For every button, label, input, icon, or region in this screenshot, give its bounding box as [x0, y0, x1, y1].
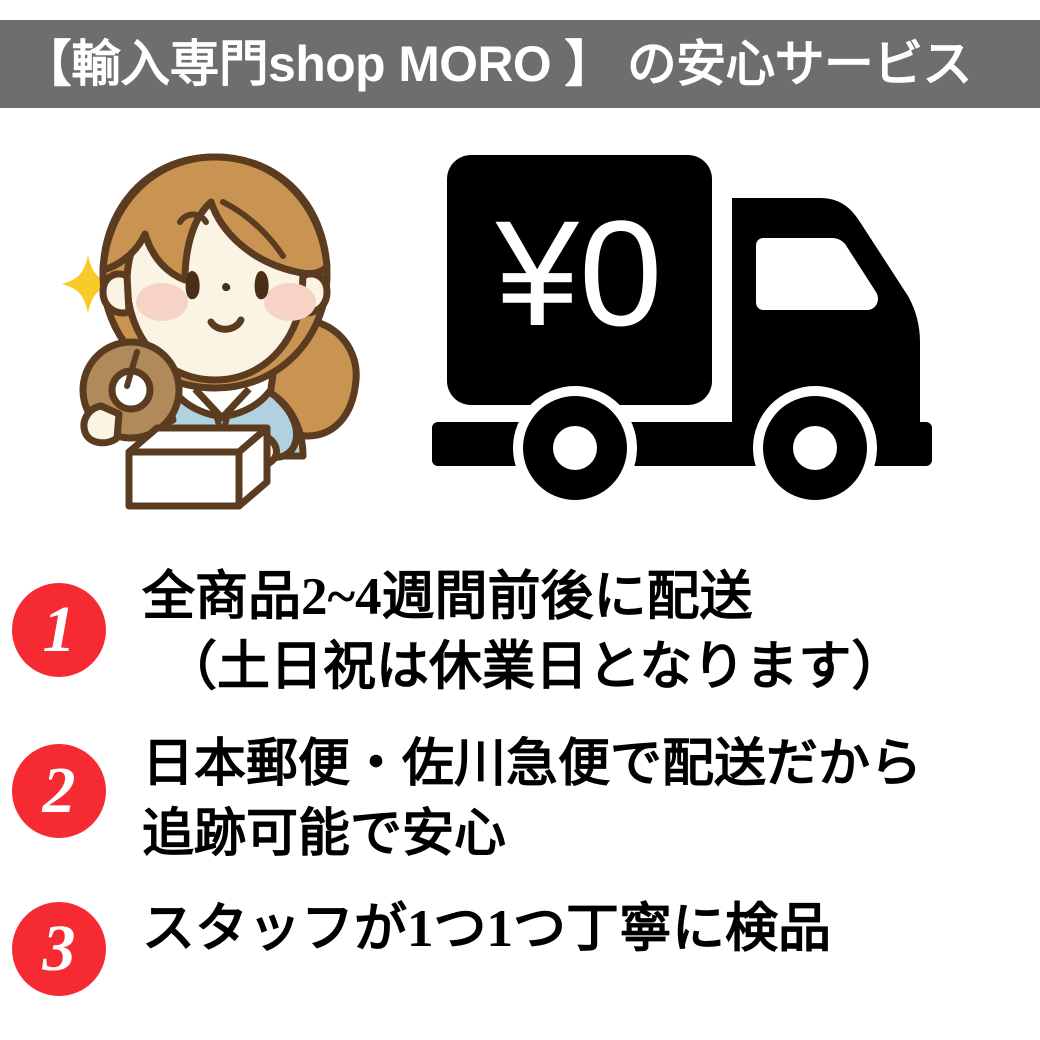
service-badge-2: 2: [12, 744, 106, 838]
service-text-1: 全商品2~4週間前後に配送 （土日祝は休業日となります）: [106, 548, 1040, 702]
service-item-1: 1 全商品2~4週間前後に配送 （土日祝は休業日となります）: [0, 548, 1040, 728]
service-text-2-line-1: 日本郵便・佐川急便で配送だから: [142, 730, 1040, 800]
service-text-2-line-2: 追跡可能で安心: [142, 800, 1040, 870]
service-badge-3: 3: [12, 902, 106, 996]
cardboard-box-icon: [129, 428, 267, 506]
service-text-2: 日本郵便・佐川急便で配送だから 追跡可能で安心: [106, 728, 1040, 870]
service-item-2: 2 日本郵便・佐川急便で配送だから 追跡可能で安心: [0, 728, 1040, 888]
service-text-1-line-1: 全商品2~4週間前後に配送: [142, 562, 1040, 632]
service-badge-1: 1: [12, 583, 106, 677]
service-text-3-line-1: スタッフが1つ1つ丁寧に検品: [142, 894, 1040, 964]
service-list: 1 全商品2~4週間前後に配送 （土日祝は休業日となります） 2 日本郵便・佐川…: [0, 548, 1040, 1008]
illustration-zone: ¥0: [0, 120, 1040, 540]
service-text-1-line-2: （土日祝は休業日となります）: [142, 632, 1040, 702]
service-item-3: 3 スタッフが1つ1つ丁寧に検品: [0, 888, 1040, 1008]
delivery-truck-illustration: ¥0: [420, 140, 1020, 510]
truck-cargo-label: ¥0: [495, 189, 663, 357]
header-banner: 【輸入専門shop MORO 】 の安心サービス: [0, 20, 1040, 108]
service-text-3: スタッフが1つ1つ丁寧に検品: [106, 888, 1040, 964]
woman-packing-box-illustration: [45, 140, 395, 510]
page-title: 【輸入専門shop MORO 】 の安心サービス: [0, 20, 972, 108]
